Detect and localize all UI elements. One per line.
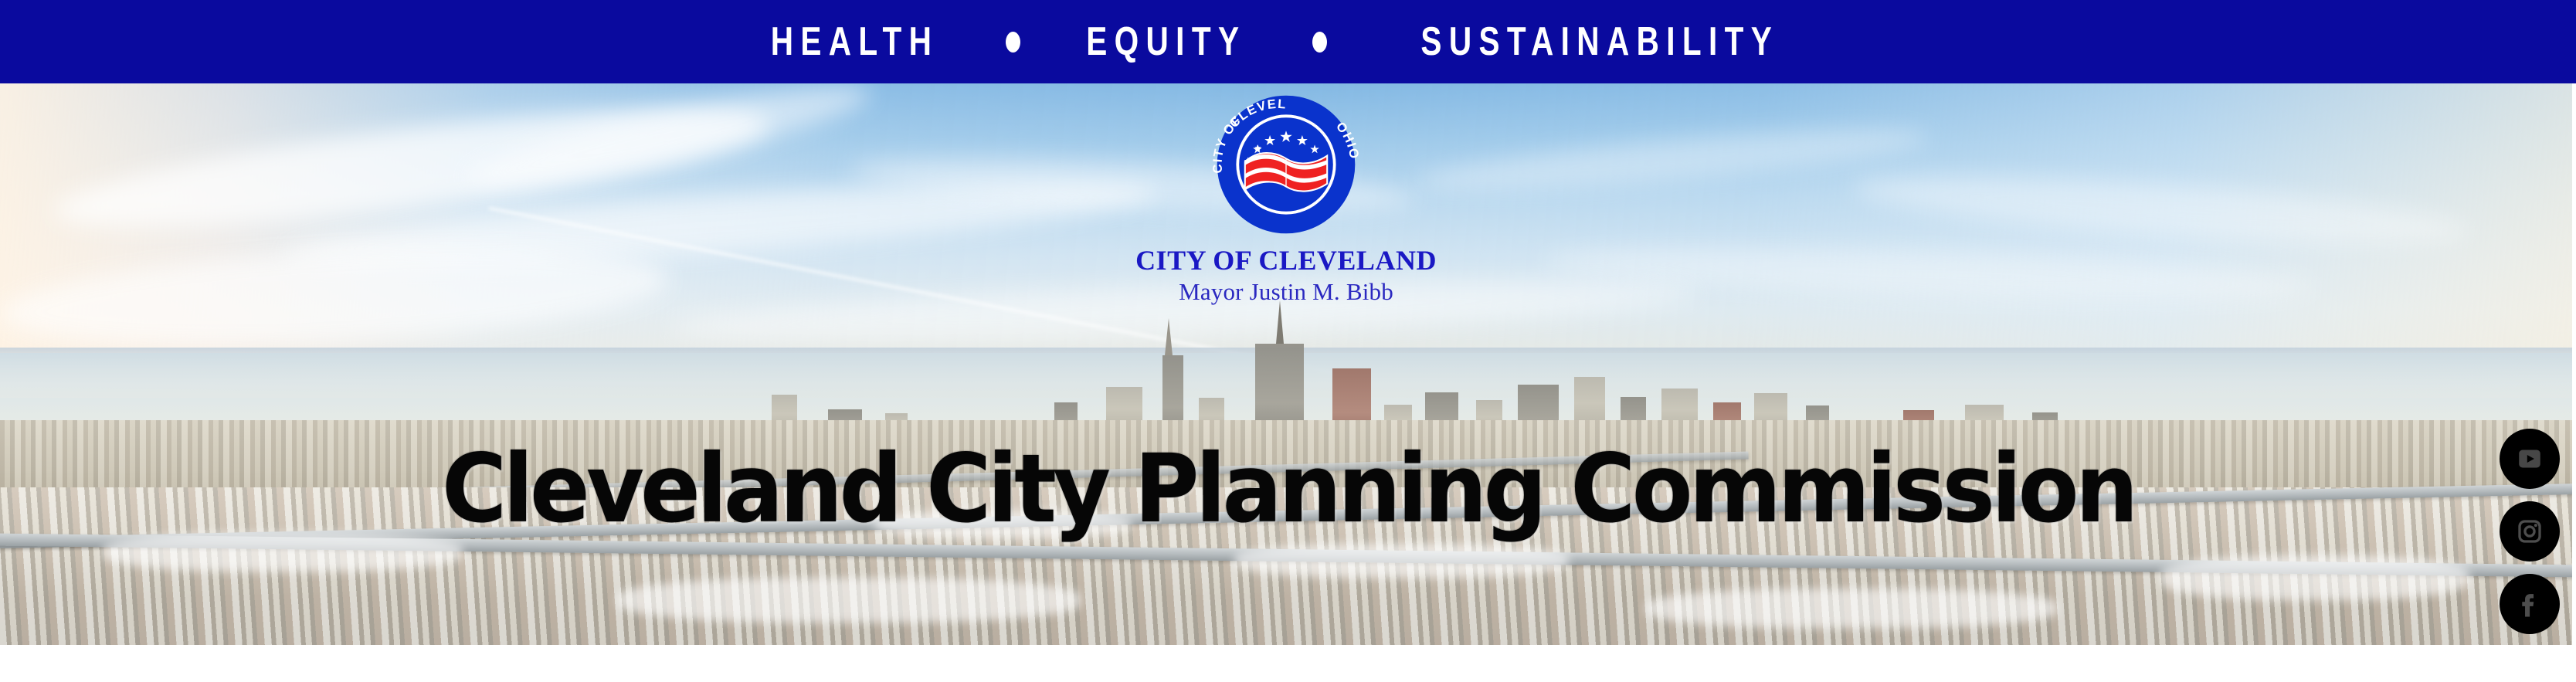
snow-patch [617,578,1080,623]
snow-patch [1646,589,2058,628]
city-of-cleveland-wordmark: CITY OF CLEVELAND [1135,246,1437,276]
bullet-dot-icon [1006,32,1020,53]
mayor-name-label: Mayor Justin M. Bibb [1179,280,1393,305]
facebook-icon [2513,587,2547,621]
tagline-bar: HEALTH EQUITY SUSTAINABILITY [0,0,2576,83]
bottom-gutter [0,645,2576,682]
city-of-cleveland-seal: CITY OF CLEVELAND OHIO [1213,91,1359,238]
instagram-link[interactable] [2500,501,2560,562]
key-tower-spire [1276,300,1284,344]
right-gutter [2572,83,2576,645]
city-branding-block: CITY OF CLEVELAND OHIO [1085,91,1487,304]
social-media-rail [2499,429,2561,634]
facebook-link[interactable] [2500,574,2560,634]
youtube-icon [2513,442,2547,476]
tagline-word-sustainability: SUSTAINABILITY [1420,22,1779,62]
tagline-word-equity: EQUITY [1086,22,1246,62]
cleveland-planning-commission-banner: HEALTH EQUITY SUSTAINABILITY [0,0,2576,682]
bullet-dot-icon [1312,32,1327,53]
snow-patch [2160,555,2469,600]
snow-patch [874,511,1132,538]
tagline-word-health: HEALTH [771,22,939,62]
snow-patch [103,533,463,572]
tagline-text-group: HEALTH EQUITY SUSTAINABILITY [747,22,1829,62]
youtube-link[interactable] [2500,429,2560,489]
snow-patch [1234,544,1569,578]
instagram-icon [2513,514,2547,548]
terminal-tower-spire [1165,318,1173,355]
